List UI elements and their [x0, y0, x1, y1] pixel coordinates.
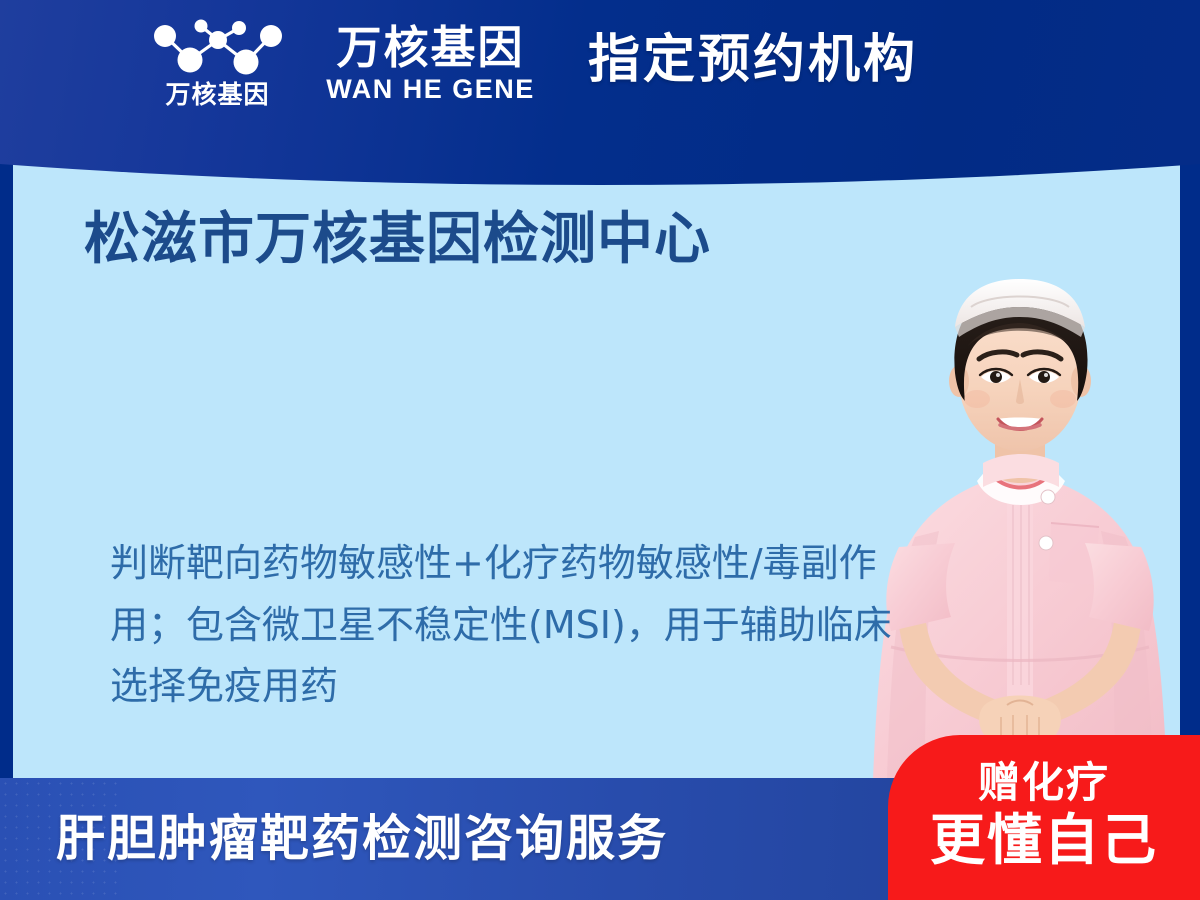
promo-line-2: 更懂自己	[930, 811, 1158, 870]
molecule-network-icon	[143, 18, 293, 78]
brand-wordmark: 万核基因 WAN HE GENE	[318, 24, 543, 105]
logo-block: 万核基因	[140, 18, 295, 118]
promo-poster: 万核基因 万核基因 WAN HE GENE 指定预约机构 松滋市万核基因检测中心…	[0, 0, 1200, 900]
header-tagline: 指定预约机构	[588, 32, 918, 89]
page-title: 松滋市万核基因检测中心	[84, 208, 711, 272]
promo-line-1: 赠化疗	[978, 761, 1110, 805]
brand-name-cn: 万核基因	[336, 24, 524, 71]
nurse-portrait	[855, 255, 1185, 780]
footer-service-text: 肝胆肿瘤靶药检测咨询服务	[56, 812, 668, 866]
header-band: 万核基因 万核基因 WAN HE GENE 指定预约机构	[0, 0, 1200, 185]
service-description: 判断靶向药物敏感性+化疗药物敏感性/毒副作用；包含微卫星不稳定性(MSI)，用于…	[110, 533, 900, 718]
promo-badge: 赠化疗 更懂自己	[888, 735, 1200, 900]
logo-mark-label: 万核基因	[165, 82, 269, 107]
brand-name-en: WAN HE GENE	[326, 75, 535, 105]
